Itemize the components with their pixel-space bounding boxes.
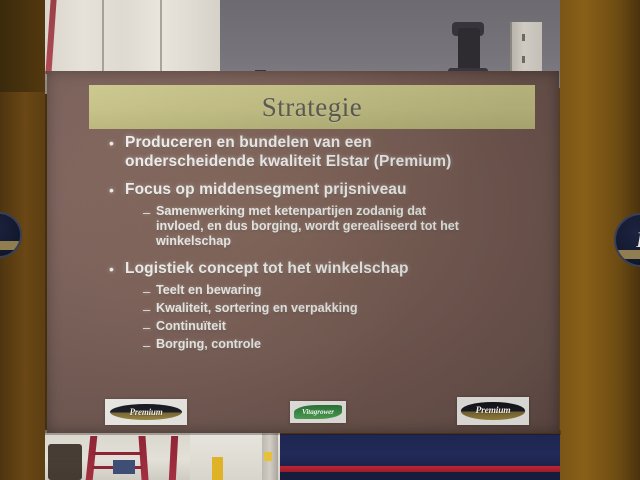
- badge-letter: P: [636, 229, 640, 251]
- bullet-item: • Produceren en bundelen van een ondersc…: [109, 133, 533, 171]
- sub-bullet-item: – Kwaliteit, sortering en verpakking: [143, 301, 533, 318]
- sub-bullet-marker: –: [143, 301, 156, 318]
- premium-logo-left: Premium: [105, 399, 187, 425]
- sub-bullet-line: winkelschap: [156, 234, 231, 248]
- blue-crate: [113, 460, 135, 474]
- sub-bullet-item: – Samenwerking met ketenpartijen zodanig…: [143, 204, 533, 249]
- motor-body: [458, 28, 480, 72]
- bullet-text: Logistiek concept tot het winkelschap: [125, 259, 533, 278]
- photo-of-presentation-room: P Strategie • Produceren en bundelen van…: [0, 0, 640, 480]
- hazard-label: [264, 452, 272, 461]
- bullet-text: Produceren en bundelen van een ondersche…: [125, 133, 533, 171]
- projection-screen: Strategie • Produceren en bundelen van e…: [47, 71, 559, 433]
- navy-lower-band: [280, 472, 572, 480]
- badge-band: [616, 250, 640, 259]
- bullet-item: • Logistiek concept tot het winkelschap: [109, 259, 533, 280]
- premium-logo-right: Premium: [457, 397, 529, 425]
- logo-label: Premium: [475, 406, 510, 416]
- sub-bullet-item: – Continuïteit: [143, 319, 533, 336]
- slide-body: • Produceren en bundelen van een ondersc…: [47, 133, 559, 355]
- badge-band: [0, 241, 20, 250]
- logo-label: Vitagrower: [302, 408, 334, 416]
- sub-bullet-item: – Borging, controle: [143, 337, 533, 354]
- sub-bullet-marker: –: [143, 319, 156, 336]
- ladder-rung: [92, 452, 142, 455]
- wall-panel-seam: [102, 0, 104, 80]
- premium-oval-icon: Premium: [461, 402, 524, 419]
- cabinet-fitting: [522, 56, 525, 63]
- bullet-text-line: onderscheidende kwaliteit Elstar (Premiu…: [125, 153, 451, 170]
- leaf-icon: Vitagrower: [294, 405, 342, 420]
- sub-bullet-marker: –: [143, 204, 156, 221]
- sponsor-logo-strip: Premium Vitagrower Premium: [47, 397, 559, 431]
- cabinet-fitting: [522, 34, 525, 41]
- bullet-text-line: Produceren en bundelen van een: [125, 134, 372, 151]
- navy-wall-panel: [280, 434, 570, 468]
- page-title: Strategie: [262, 92, 362, 123]
- left-pillar-top: [0, 0, 45, 92]
- sub-bullet-text: Teelt en bewaring: [156, 283, 533, 298]
- sub-bullet-line: invloed, en dus borging, wordt gerealise…: [156, 219, 459, 233]
- sub-bullet-marker: –: [143, 337, 156, 354]
- bullet-item: • Focus op middensegment prijsniveau: [109, 180, 533, 201]
- bullet-text: Focus op middensegment prijsniveau: [125, 180, 533, 199]
- sub-bullet-marker: –: [143, 283, 156, 300]
- sub-bullet-text: Samenwerking met ketenpartijen zodanig d…: [156, 204, 533, 249]
- sub-bullet-item: – Teelt en bewaring: [143, 283, 533, 300]
- green-leaf-logo: Vitagrower: [290, 401, 346, 423]
- sub-bullet-text: Kwaliteit, sortering en verpakking: [156, 301, 533, 316]
- slide-title-banner: Strategie: [89, 85, 535, 129]
- sub-bullet-text: Continuïteit: [156, 319, 533, 334]
- spacer: [109, 250, 533, 259]
- white-wall-panels: [44, 0, 220, 80]
- premium-oval-icon: Premium: [110, 404, 182, 420]
- bullet-marker: •: [109, 180, 125, 201]
- floor-clutter: [48, 444, 82, 480]
- yellow-bollard: [212, 457, 223, 480]
- sub-bullet-line: Samenwerking met ketenpartijen zodanig d…: [156, 204, 426, 218]
- logo-label: Premium: [129, 407, 162, 417]
- bullet-marker: •: [109, 133, 125, 154]
- bullet-marker: •: [109, 259, 125, 280]
- wall-panel-seam: [160, 0, 162, 80]
- sub-bullet-text: Borging, controle: [156, 337, 533, 352]
